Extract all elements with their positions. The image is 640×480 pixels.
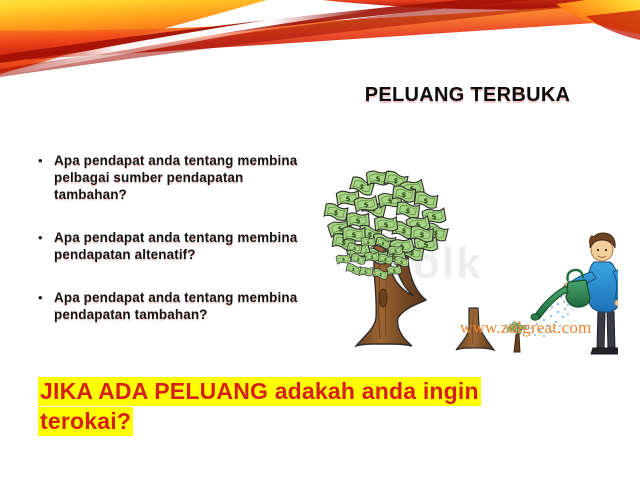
conclusion-text: JIKA ADA PELUANG adakah anda ingin terok… [40, 376, 560, 436]
bullet-marker-icon: • [38, 229, 54, 246]
list-item: • Apa pendapat anda tentang membina pend… [38, 289, 320, 323]
bullet-list: • Apa pendapat anda tentang membina pelb… [38, 152, 320, 323]
orange-swoosh-banner [0, 0, 640, 90]
list-item: • Apa pendapat anda tentang membina pend… [38, 229, 320, 263]
conclusion-line-2: terokai? [40, 407, 131, 436]
page-title: PELUANG TERBUKA [330, 84, 605, 107]
bullet-text: Apa pendapat anda tentang membina pendap… [54, 229, 320, 263]
bullet-text: Apa pendapat anda tentang membina pendap… [54, 289, 320, 323]
bullet-text: Apa pendapat anda tentang membina pelbag… [54, 152, 320, 203]
presentation-slide: PELUANG TERBUKA • Apa pendapat anda tent… [0, 0, 640, 480]
list-item: • Apa pendapat anda tentang membina pelb… [38, 152, 320, 203]
bullet-marker-icon: • [38, 289, 54, 306]
bullet-marker-icon: • [38, 152, 54, 169]
conclusion-line-1: JIKA ADA PELUANG adakah anda ingin [40, 377, 479, 406]
money-tree-illustration: $ olk [318, 158, 618, 373]
